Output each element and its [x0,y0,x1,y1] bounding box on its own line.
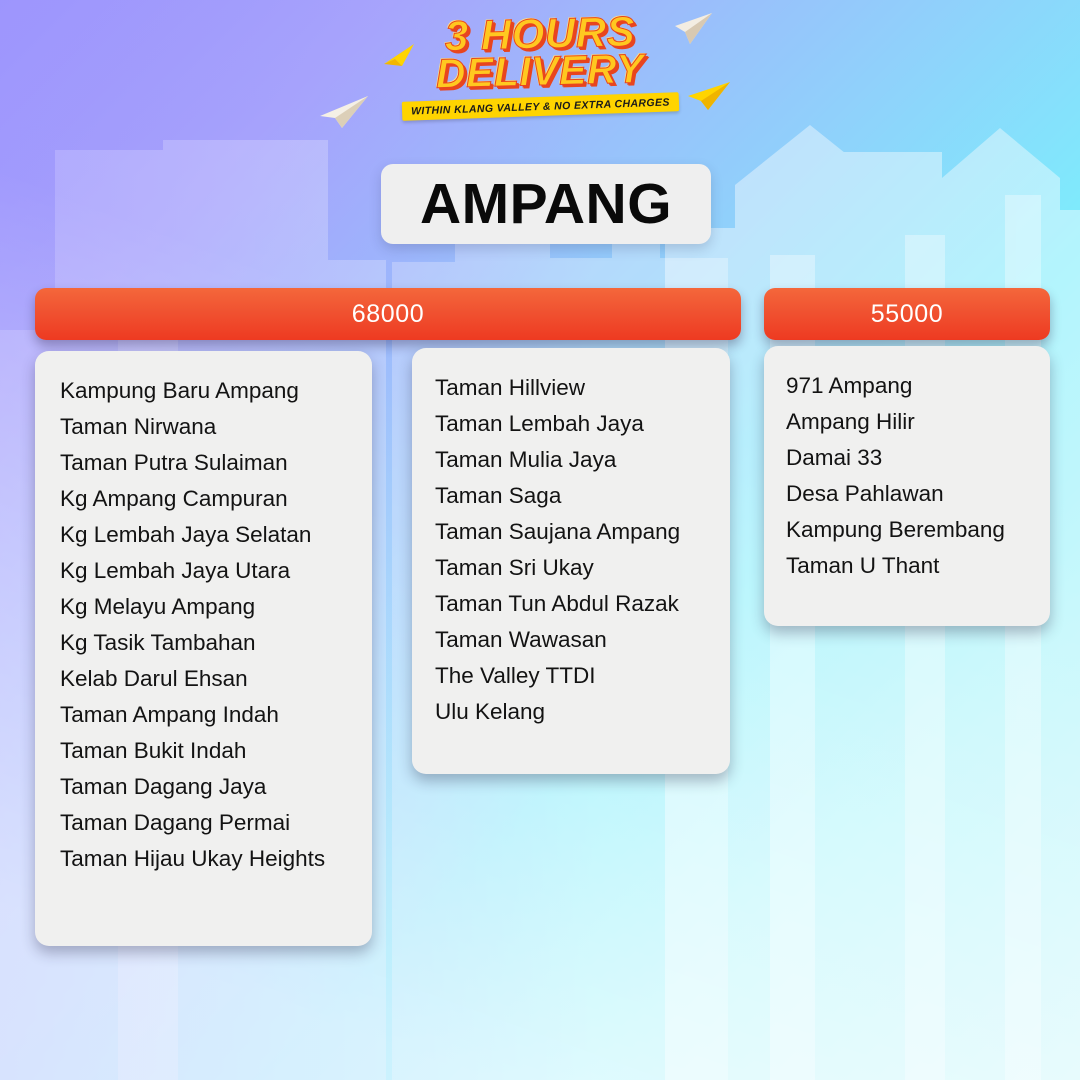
postcode-label: 55000 [871,300,944,329]
list-item: Taman Hijau Ukay Heights [35,841,372,877]
list-item: Taman Ampang Indah [35,697,372,733]
list-item: Taman Lembah Jaya [412,406,730,442]
list-item: Taman Wawasan [412,622,730,658]
list-item: Kampung Baru Ampang [35,373,372,409]
poster-canvas: 3 HOURS DELIVERY WITHIN KLANG VALLEY & N… [0,0,1080,1080]
area-list-card-column-1: Kampung Baru Ampang Taman Nirwana Taman … [35,351,372,946]
postcode-header-55000: 55000 [764,288,1050,340]
list-item: Taman Bukit Indah [35,733,372,769]
list-item: Taman Saujana Ampang [412,514,730,550]
list-item: Taman Mulia Jaya [412,442,730,478]
list-item: Kg Lembah Jaya Utara [35,553,372,589]
page-title: AMPANG [420,171,672,237]
list-item: Kg Tasik Tambahan [35,625,372,661]
list-item: Taman Sri Ukay [412,550,730,586]
list-item: Taman Dagang Permai [35,805,372,841]
list-item: Taman Dagang Jaya [35,769,372,805]
list-item: Damai 33 [764,440,1050,476]
list-item: 971 Ampang [764,368,1050,404]
list-item: Kg Ampang Campuran [35,481,372,517]
paper-plane-icon-right [686,80,732,112]
list-item: Taman Tun Abdul Razak [412,586,730,622]
list-item: Kg Melayu Ampang [35,589,372,625]
list-item: Kampung Berembang [764,512,1050,548]
list-item: Kg Lembah Jaya Selatan [35,517,372,553]
list-item: Ulu Kelang [412,694,730,730]
list-item: Kelab Darul Ehsan [35,661,372,697]
list-item: Taman U Thant [764,548,1050,584]
area-list-card-column-3: 971 Ampang Ampang Hilir Damai 33 Desa Pa… [764,346,1050,626]
list-item: Taman Putra Sulaiman [35,445,372,481]
area-title-card: AMPANG [381,164,711,244]
promo-badge: 3 HOURS DELIVERY WITHIN KLANG VALLEY & N… [390,14,690,142]
promo-headline-2: DELIVERY [390,48,691,95]
list-item: Taman Saga [412,478,730,514]
list-item: Desa Pahlawan [764,476,1050,512]
list-item: Taman Hillview [412,370,730,406]
postcode-header-68000: 68000 [35,288,741,340]
postcode-label: 68000 [352,300,425,329]
list-item: The Valley TTDI [412,658,730,694]
list-item: Ampang Hilir [764,404,1050,440]
list-item: Taman Nirwana [35,409,372,445]
paper-plane-icon-bottom-left [318,92,370,130]
area-list-card-column-2: Taman Hillview Taman Lembah Jaya Taman M… [412,348,730,774]
